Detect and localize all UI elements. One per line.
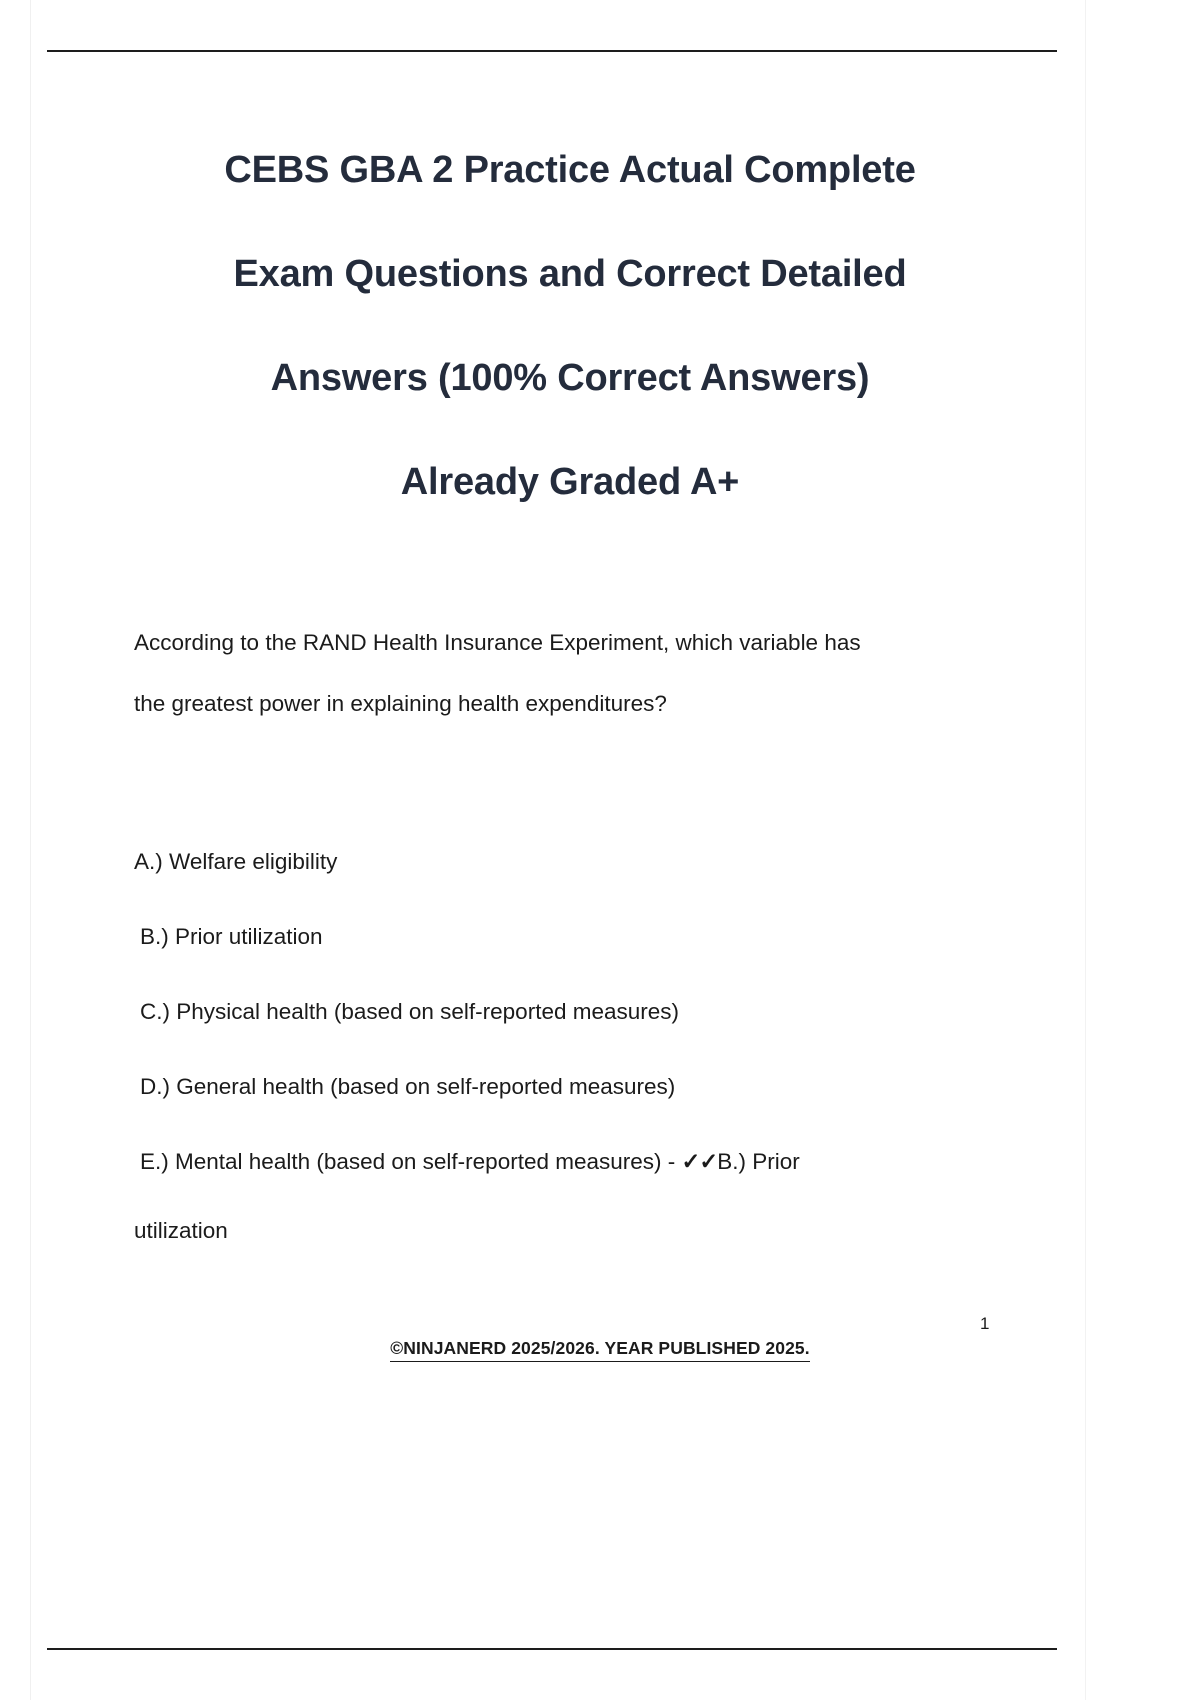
option-e-label: E.) Mental health (based on self-reporte… <box>140 1149 682 1174</box>
footer-divider <box>47 1648 1057 1650</box>
scan-edge-right <box>1085 0 1086 1700</box>
document-page: CEBS GBA 2 Practice Actual Complete Exam… <box>0 0 1200 1700</box>
page-title: CEBS GBA 2 Practice Actual Complete Exam… <box>140 118 1000 534</box>
correct-answer-text: B.) Prior <box>717 1149 800 1174</box>
title-line-4: Already Graded A+ <box>140 430 1000 534</box>
option-b: B.) Prior utilization <box>140 899 994 974</box>
option-d: D.) General health (based on self-report… <box>140 1049 994 1124</box>
option-a: A.) Welfare eligibility <box>134 824 994 899</box>
footer-copyright: ©NINJANERD 2025/2026. YEAR PUBLISHED 202… <box>390 1338 809 1362</box>
title-line-2: Exam Questions and Correct Detailed <box>140 222 1000 326</box>
correct-answer-checkmark-icon: ✓✓ <box>682 1149 718 1174</box>
option-c: C.) Physical health (based on self-repor… <box>140 974 994 1049</box>
page-number: 1 <box>980 1314 989 1334</box>
footer: ©NINJANERD 2025/2026. YEAR PUBLISHED 202… <box>0 1338 1200 1362</box>
title-line-1: CEBS GBA 2 Practice Actual Complete <box>140 118 1000 222</box>
question-line-2: the greatest power in explaining health … <box>134 673 994 734</box>
option-e-with-answer: E.) Mental health (based on self-reporte… <box>140 1124 994 1199</box>
scan-edge-left <box>30 0 31 1700</box>
header-divider <box>47 50 1057 52</box>
block-spacer <box>134 734 994 824</box>
title-line-3: Answers (100% Correct Answers) <box>140 326 1000 430</box>
question-block: According to the RAND Health Insurance E… <box>134 612 994 1263</box>
correct-answer-wrapped-text: utilization <box>134 1199 994 1263</box>
question-line-1: According to the RAND Health Insurance E… <box>134 612 994 673</box>
